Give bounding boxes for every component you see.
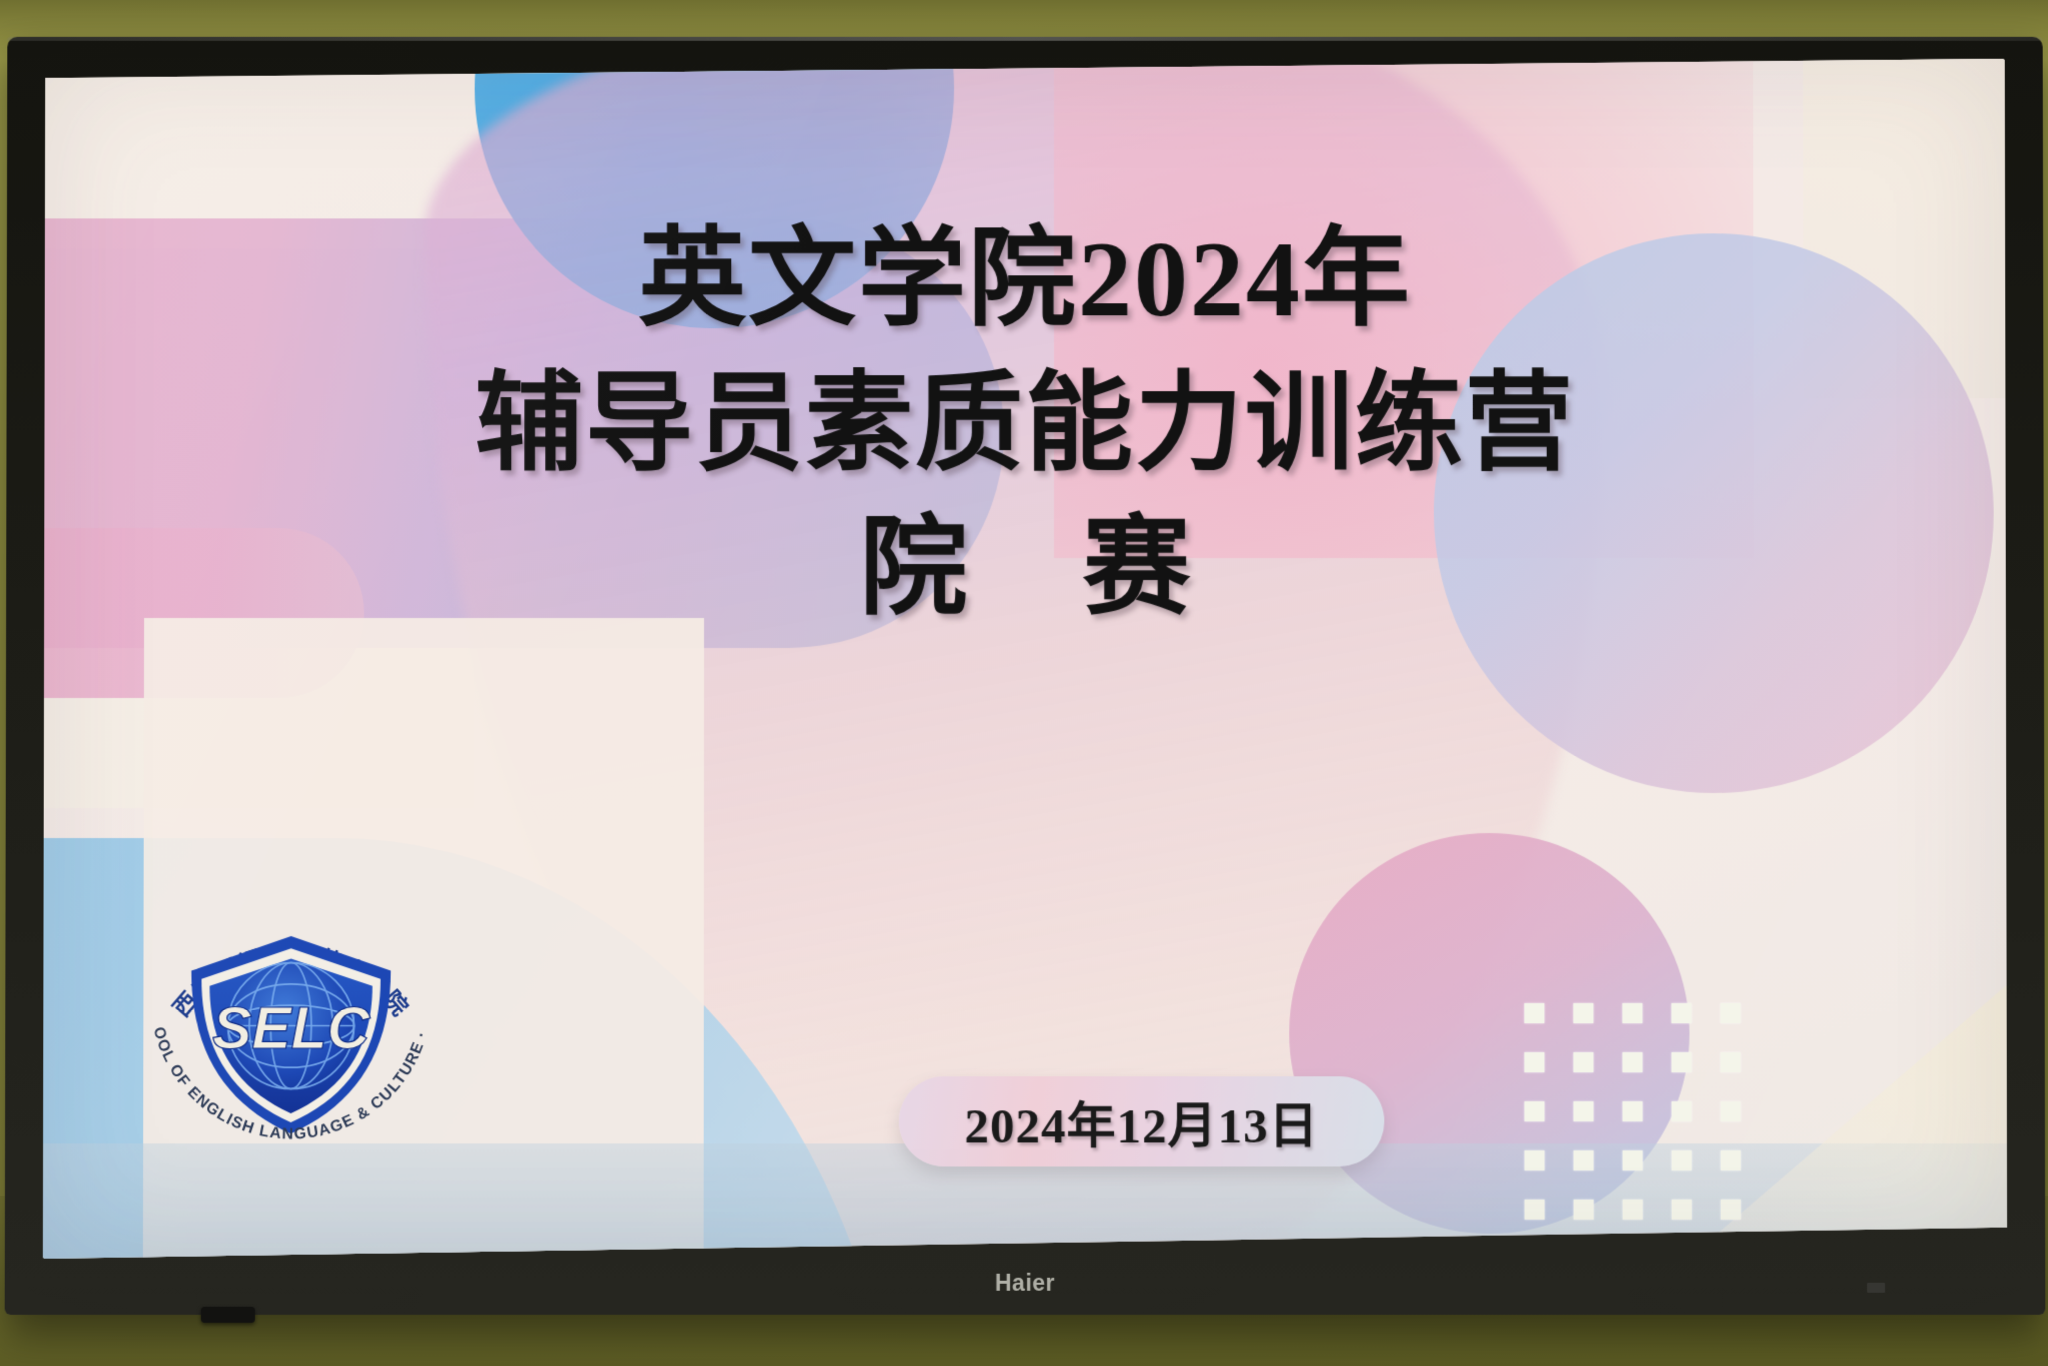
dot <box>1672 1249 1692 1259</box>
presentation-slide: 英文学院2024年 辅导员素质能力训练营 院 赛 2024年12月13日 <box>43 59 2007 1259</box>
title-line-1: 英文学院2024年 <box>45 208 2006 352</box>
tv-side-badge <box>1867 1283 1885 1293</box>
dot <box>1623 1200 1643 1220</box>
dot <box>1671 1052 1691 1072</box>
room-background: 英文学院2024年 辅导员素质能力训练营 院 赛 2024年12月13日 <box>0 0 2048 1366</box>
dot <box>1524 1150 1544 1170</box>
dot <box>1623 1150 1643 1170</box>
dot <box>1524 1052 1544 1072</box>
dot <box>1524 1101 1544 1121</box>
dot <box>1525 1200 1545 1220</box>
title-line-2: 辅导员素质能力训练营 <box>44 353 2005 498</box>
screen[interactable]: 英文学院2024年 辅导员素质能力训练营 院 赛 2024年12月13日 <box>43 59 2007 1259</box>
dot <box>1525 1249 1545 1259</box>
decor-dot-grid <box>1524 1003 1741 1258</box>
dot <box>1524 1003 1544 1023</box>
dot <box>1622 1003 1642 1023</box>
dot <box>1623 1101 1643 1121</box>
logo-acronym: SELC <box>212 996 371 1061</box>
dot <box>1671 1003 1691 1023</box>
dot <box>1573 1052 1593 1072</box>
dot <box>1622 1052 1642 1072</box>
television-display[interactable]: 英文学院2024年 辅导员素质能力训练营 院 赛 2024年12月13日 <box>5 37 2046 1315</box>
dot <box>1721 1200 1741 1220</box>
tv-brand-label: Haier <box>995 1270 1055 1297</box>
dot <box>1672 1101 1692 1121</box>
slide-title: 英文学院2024年 辅导员素质能力训练营 院 赛 <box>44 208 2006 642</box>
title-line-3: 院 赛 <box>44 498 2006 643</box>
dot <box>1573 1003 1593 1023</box>
dot <box>1672 1150 1692 1170</box>
dot <box>1573 1101 1593 1121</box>
bezel-highlight <box>7 37 2042 41</box>
tv-ir-receiver <box>201 1307 255 1323</box>
dot <box>1574 1200 1594 1220</box>
date-text: 2024年12月13日 <box>964 1086 1318 1157</box>
dot <box>1721 1052 1741 1072</box>
selc-school-logo: 西安翻译学院英文学院 <box>138 873 444 1178</box>
dot <box>1574 1249 1594 1259</box>
dot <box>1574 1150 1594 1170</box>
dot <box>1720 1003 1740 1023</box>
dot <box>1623 1249 1643 1259</box>
date-badge: 2024年12月13日 <box>899 1076 1384 1166</box>
dot <box>1721 1249 1741 1259</box>
dot <box>1721 1101 1741 1121</box>
dot <box>1721 1150 1741 1170</box>
dot <box>1672 1200 1692 1220</box>
